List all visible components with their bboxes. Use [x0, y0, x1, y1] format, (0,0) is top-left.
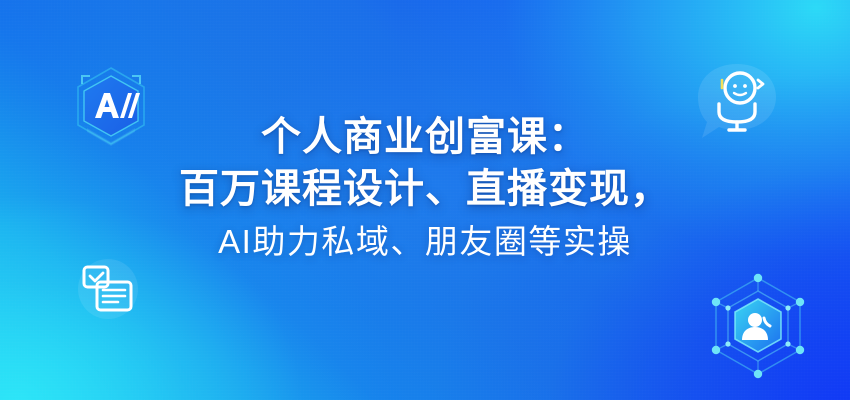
headline-line-2: 百万课程设计、直播变现，: [60, 162, 790, 216]
course-promo-banner: 个人商业创富课： 百万课程设计、直播变现， AI助力私域、朋友圈等实操: [0, 0, 850, 400]
network-user-hexagon-icon: [700, 268, 816, 384]
headline-line-1: 个人商业创富课：: [60, 112, 790, 162]
headline-line-3: AI助力私域、朋友圈等实操: [60, 216, 790, 268]
headline-block: 个人商业创富课： 百万课程设计、直播变现， AI助力私域、朋友圈等实操: [0, 112, 850, 268]
